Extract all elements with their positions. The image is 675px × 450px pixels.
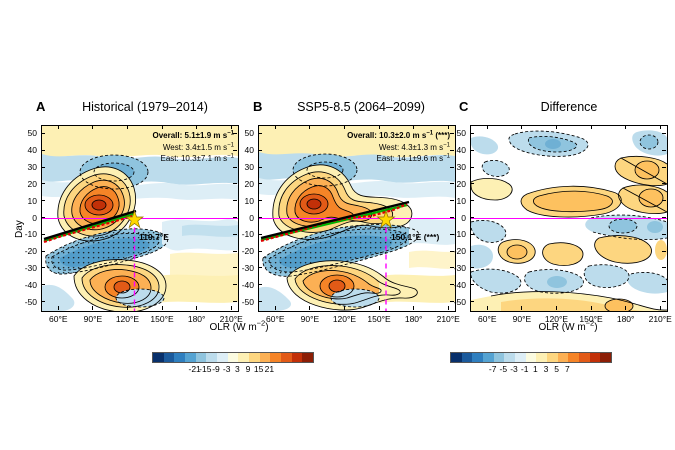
y-tick-label-b: 30 <box>232 162 254 172</box>
stat-west-label-b: West: <box>379 143 399 152</box>
x-tick-mark-top <box>127 125 128 129</box>
colorbar-swatch <box>494 353 505 362</box>
stat-overall-label-b: Overall: <box>347 131 377 140</box>
y-tick-mark <box>258 234 262 235</box>
x-tick-mark <box>58 306 59 310</box>
y-tick-mark <box>470 301 474 302</box>
y-tick-label-a: -40 <box>15 280 37 290</box>
x-tick-mark <box>309 306 310 310</box>
y-tick-label-b: -20 <box>232 246 254 256</box>
y-tick-mark <box>41 284 45 285</box>
y-tick-mark <box>470 133 474 134</box>
y-tick-mark <box>41 217 45 218</box>
y-tick-mark-right <box>662 200 666 201</box>
x-tick-mark <box>162 306 163 310</box>
y-tick-mark-right <box>662 217 666 218</box>
colorbar-left-swatches <box>152 352 314 363</box>
x-tick-mark-top <box>275 125 276 129</box>
y-tick-mark-right <box>662 284 666 285</box>
y-tick-mark <box>470 234 474 235</box>
x-tick-mark-top <box>309 125 310 129</box>
y-tick-label-b: 40 <box>232 145 254 155</box>
x-tick-mark <box>591 306 592 310</box>
y-tick-label-a: -20 <box>15 246 37 256</box>
colorbar-tick-label: 7 <box>553 364 581 374</box>
termination-longitude-b: 150.1°E (***) <box>391 232 439 242</box>
stat-overall-value-a: 5.1±1.9 m s <box>185 131 228 140</box>
y-tick-mark <box>258 133 262 134</box>
x-tick-mark-top <box>162 125 163 129</box>
colorbar-swatch <box>462 353 473 362</box>
panel-a-stats: Overall: 5.1±1.9 m s−1 West: 3.4±1.5 m s… <box>122 130 234 165</box>
y-tick-label-a: 40 <box>15 145 37 155</box>
panel-b-letter: B <box>253 100 262 113</box>
y-tick-label-a: 50 <box>15 128 37 138</box>
panel-c-letter: C <box>459 100 468 113</box>
x-tick-mark <box>448 306 449 310</box>
stat-west-value-b: 4.3±1.3 m s <box>401 143 443 152</box>
hovmoller-plot-c <box>471 126 667 311</box>
y-tick-mark <box>41 200 45 201</box>
stat-east-value-b: 14.1±9.6 m s <box>397 154 443 163</box>
y-tick-mark <box>470 183 474 184</box>
stat-west-value-a: 3.4±1.5 m s <box>185 143 227 152</box>
y-tick-label-b: 50 <box>232 128 254 138</box>
y-tick-label-c: -30 <box>444 263 466 273</box>
y-tick-label-a: -50 <box>15 297 37 307</box>
colorbar-swatch <box>590 353 601 362</box>
x-tick-mark-top <box>58 125 59 129</box>
y-tick-mark-right <box>662 183 666 184</box>
y-tick-mark <box>258 284 262 285</box>
colorbar-swatch <box>153 353 164 362</box>
colorbar-right-swatches <box>450 352 612 363</box>
x-tick-mark-top <box>660 125 661 129</box>
y-tick-label-c: 20 <box>444 179 466 189</box>
colorbar-swatch <box>196 353 207 362</box>
x-tick-mark <box>275 306 276 310</box>
x-tick-mark <box>196 306 197 310</box>
x-tick-mark <box>127 306 128 310</box>
colorbar-swatch <box>174 353 185 362</box>
colorbar-swatch <box>536 353 547 362</box>
x-tick-mark-top <box>625 125 626 129</box>
y-tick-label-c: -20 <box>444 246 466 256</box>
colorbar-swatch <box>281 353 292 362</box>
y-tick-mark <box>258 301 262 302</box>
stat-east-value-a: 10.3±7.1 m s <box>181 154 227 163</box>
olr-colorbar-left: -21-15-9-3391521 <box>152 352 312 378</box>
panel-b-stats: Overall: 10.3±2.0 m s−1 (***) West: 4.3±… <box>330 130 450 165</box>
y-tick-label-c: -10 <box>444 229 466 239</box>
colorbar-swatch <box>217 353 228 362</box>
y-tick-mark <box>470 284 474 285</box>
x-tick-mark-top <box>591 125 592 129</box>
stat-east-label-b: East: <box>376 154 394 163</box>
stat-overall-label-a: Overall: <box>152 131 182 140</box>
x-tick-mark-top <box>521 125 522 129</box>
colorbar-swatch <box>260 353 271 362</box>
y-tick-mark <box>41 133 45 134</box>
y-tick-mark <box>41 251 45 252</box>
colorbar-swatch <box>483 353 494 362</box>
y-tick-mark <box>258 167 262 168</box>
y-tick-mark <box>470 167 474 168</box>
y-tick-mark <box>258 251 262 252</box>
y-tick-label-a: -10 <box>15 229 37 239</box>
colorbar-swatch <box>558 353 569 362</box>
x-tick-mark-top <box>92 125 93 129</box>
colorbar-swatch <box>579 353 590 362</box>
colorbar-swatch <box>228 353 239 362</box>
y-tick-label-b: 20 <box>232 179 254 189</box>
y-tick-mark-right <box>662 133 666 134</box>
y-tick-mark-right <box>662 251 666 252</box>
x-tick-mark-top <box>413 125 414 129</box>
colorbar-swatch <box>164 353 175 362</box>
x-tick-mark <box>625 306 626 310</box>
y-tick-mark-right <box>662 150 666 151</box>
olr-colorbar-right: -7-5-3-11357 <box>450 352 610 378</box>
y-tick-label-c: -40 <box>444 280 466 290</box>
colorbar-swatch <box>185 353 196 362</box>
y-tick-mark <box>470 200 474 201</box>
colorbar-swatch <box>292 353 303 362</box>
stat-east-label-a: East: <box>160 154 178 163</box>
figure-root: A Historical (1979–2014) Day <box>0 0 675 450</box>
colorbar-swatch <box>515 353 526 362</box>
x-tick-mark-top <box>556 125 557 129</box>
y-tick-mark-right <box>662 167 666 168</box>
y-tick-mark-right <box>662 301 666 302</box>
x-tick-mark-top <box>379 125 380 129</box>
y-tick-mark <box>41 301 45 302</box>
y-tick-label-c: 30 <box>444 162 466 172</box>
colorbar-swatch <box>600 353 611 362</box>
colorbar-swatch <box>451 353 462 362</box>
y-tick-label-a: 0 <box>15 213 37 223</box>
y-tick-label-a: 20 <box>15 179 37 189</box>
y-tick-mark <box>258 150 262 151</box>
x-tick-mark <box>413 306 414 310</box>
y-tick-label-b: -30 <box>232 263 254 273</box>
x-axis-label-a: OLR (W m−2) <box>139 322 339 333</box>
x-tick-mark-top <box>487 125 488 129</box>
y-tick-mark <box>41 234 45 235</box>
colorbar-swatch <box>504 353 515 362</box>
panel-a-title: Historical (1979–2014) <box>55 101 235 114</box>
panel-c-title: Difference <box>474 101 664 114</box>
y-tick-label-c: 50 <box>444 128 466 138</box>
y-tick-label-b: -10 <box>232 229 254 239</box>
y-tick-mark <box>470 150 474 151</box>
colorbar-swatch <box>302 353 313 362</box>
panel-a-letter: A <box>36 100 45 113</box>
stat-overall-value-b: 10.3±2.0 m s <box>379 131 426 140</box>
y-tick-mark <box>258 267 262 268</box>
x-tick-mark <box>231 306 232 310</box>
colorbar-swatch <box>526 353 537 362</box>
x-tick-mark-top <box>344 125 345 129</box>
y-tick-mark <box>258 200 262 201</box>
x-tick-mark <box>379 306 380 310</box>
x-tick-mark <box>344 306 345 310</box>
y-tick-label-b: 10 <box>232 196 254 206</box>
y-tick-mark <box>41 267 45 268</box>
y-tick-label-a: 30 <box>15 162 37 172</box>
y-tick-label-c: 0 <box>444 213 466 223</box>
y-tick-mark <box>41 183 45 184</box>
y-tick-mark <box>41 167 45 168</box>
y-tick-mark <box>258 183 262 184</box>
y-tick-mark-right <box>662 267 666 268</box>
y-tick-mark <box>258 217 262 218</box>
termination-longitude-a: 119.7°E <box>139 232 169 242</box>
colorbar-swatch <box>472 353 483 362</box>
colorbar-swatch <box>206 353 217 362</box>
y-tick-label-c: -50 <box>444 297 466 307</box>
y-tick-label-c: 10 <box>444 196 466 206</box>
x-tick-mark <box>92 306 93 310</box>
colorbar-swatch <box>270 353 281 362</box>
plot-area-c[interactable] <box>470 125 668 312</box>
colorbar-swatch <box>238 353 249 362</box>
colorbar-swatch <box>568 353 579 362</box>
y-tick-label-b: 0 <box>232 213 254 223</box>
x-axis-label-c: OLR (W m−2) <box>468 322 668 333</box>
panel-b-title: SSP5-8.5 (2064–2099) <box>268 101 454 114</box>
y-tick-mark <box>470 251 474 252</box>
y-tick-label-b: -50 <box>232 297 254 307</box>
x-tick-mark <box>487 306 488 310</box>
y-tick-mark-right <box>662 234 666 235</box>
y-tick-label-b: -40 <box>232 280 254 290</box>
x-tick-mark <box>660 306 661 310</box>
y-tick-mark <box>470 267 474 268</box>
colorbar-swatch <box>547 353 558 362</box>
y-tick-mark <box>41 150 45 151</box>
x-tick-label-b: 210°E <box>428 314 468 324</box>
stat-west-label-a: West: <box>163 143 183 152</box>
y-tick-label-a: -30 <box>15 263 37 273</box>
colorbar-swatch <box>249 353 260 362</box>
y-tick-mark <box>470 217 474 218</box>
x-tick-mark <box>521 306 522 310</box>
y-tick-label-a: 10 <box>15 196 37 206</box>
y-tick-label-c: 40 <box>444 145 466 155</box>
x-tick-mark-top <box>196 125 197 129</box>
x-tick-mark <box>556 306 557 310</box>
colorbar-tick-label: 21 <box>255 364 283 374</box>
